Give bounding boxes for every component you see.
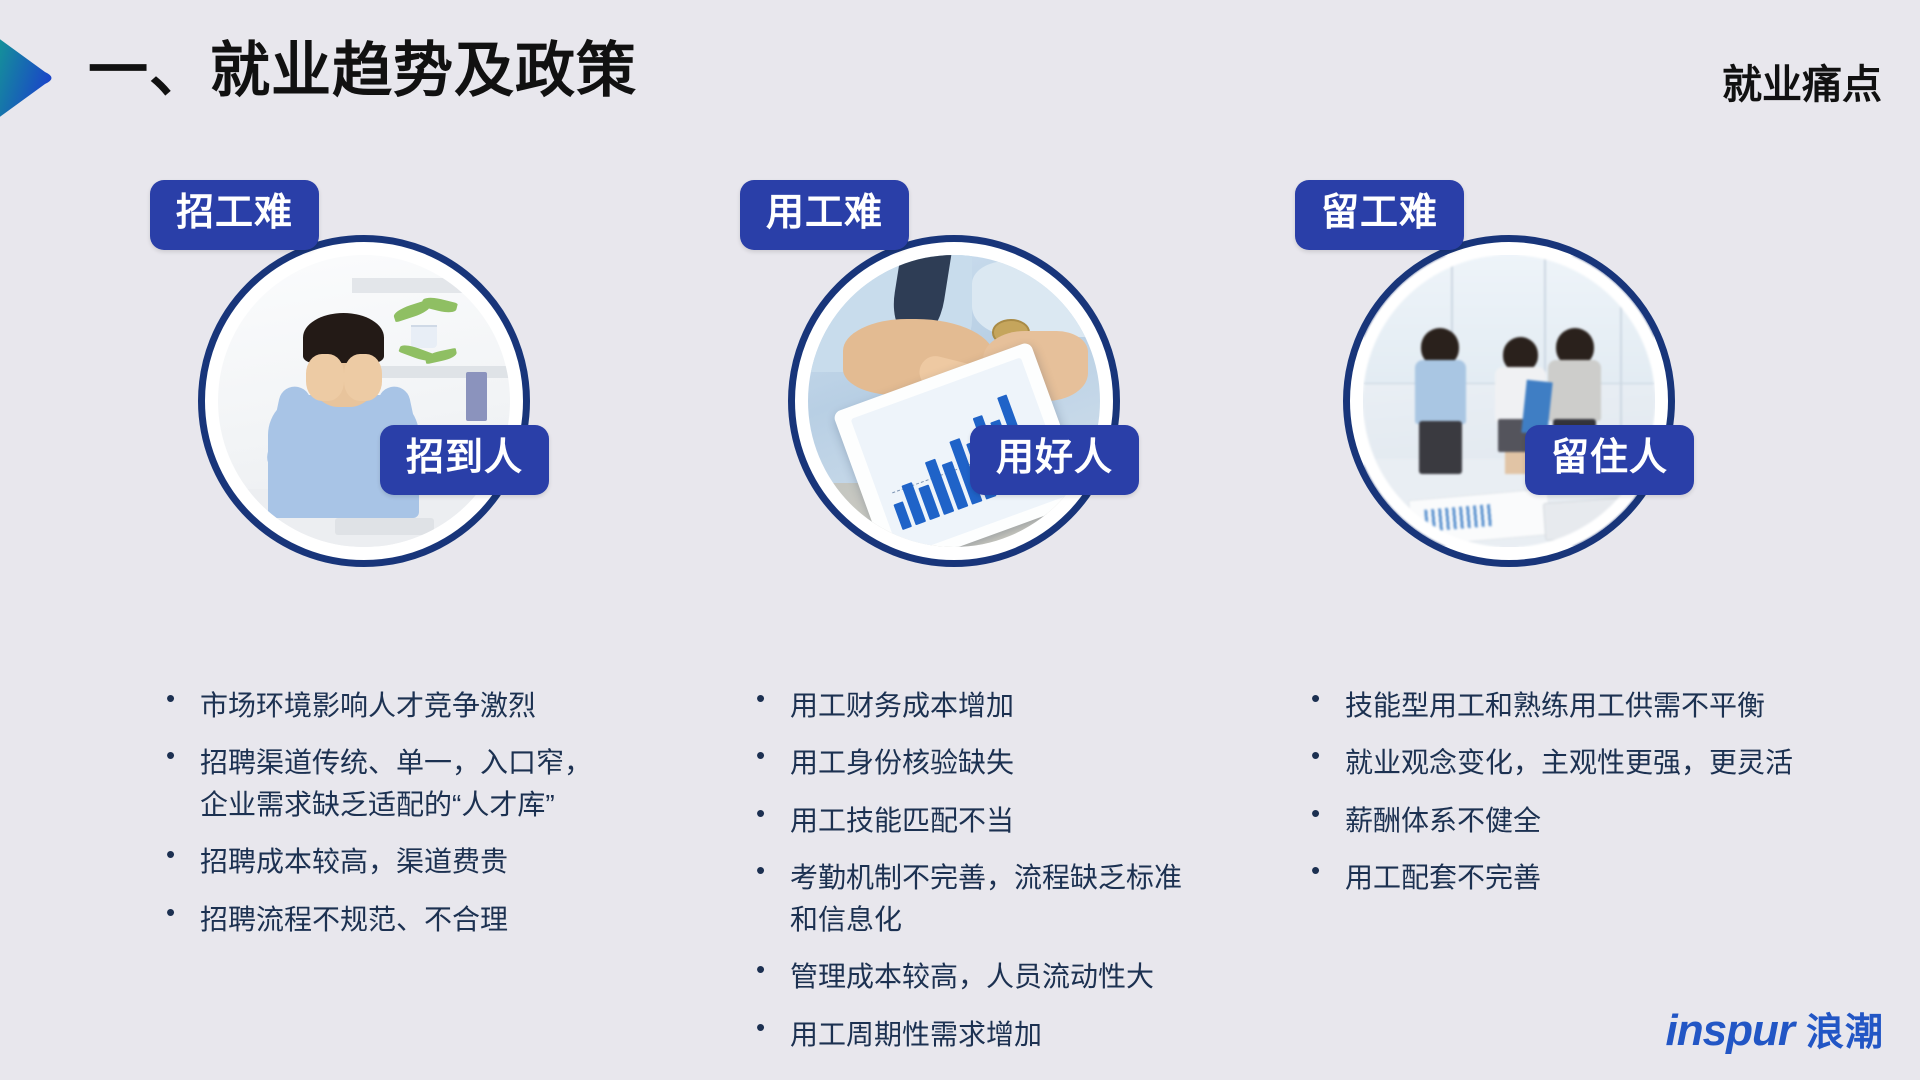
bullet-dot-icon: •: [1311, 857, 1345, 870]
bullet-dot-icon: •: [166, 899, 200, 912]
bullet-dot-icon: •: [1311, 742, 1345, 755]
badge-bottom-0[interactable]: 招到人: [380, 425, 549, 495]
photo-ring-0: [198, 235, 530, 567]
bullet-text: 招聘渠道传统、单一，入口窄， 企业需求缺乏适配的“人才库”: [200, 742, 592, 825]
page-title: 一、就业趋势及政策: [88, 35, 637, 107]
visual-block-1: 用工难 用好人: [740, 180, 1300, 580]
header-arrow-icon: [0, 32, 62, 124]
list-item: • 招聘流程不规范、不合理: [166, 899, 766, 940]
bullet-text: 管理成本较高，人员流动性大: [790, 956, 1154, 997]
brand-logo: inspur 浪潮: [1666, 1001, 1884, 1056]
list-item: • 技能型用工和熟练用工供需不平衡: [1311, 685, 1911, 726]
bullet-dot-icon: •: [756, 857, 790, 870]
list-item: • 考勤机制不完善，流程缺乏标准 和信息化: [756, 857, 1356, 940]
list-item: • 用工财务成本增加: [756, 685, 1356, 726]
bullet-dot-icon: •: [1311, 800, 1345, 813]
bullet-text: 就业观念变化，主观性更强，更灵活: [1345, 742, 1793, 783]
bullet-text: 市场环境影响人才竞争激烈: [200, 685, 536, 726]
bullet-dot-icon: •: [166, 742, 200, 755]
bullet-dot-icon: •: [756, 1014, 790, 1027]
bullet-dot-icon: •: [756, 800, 790, 813]
bullet-text: 用工配套不完善: [1345, 857, 1541, 898]
pain-point-column-2: 留工难 留住人 • 技能型用工和熟练用工供需不平衡 • 就业观念变化，主观性更强…: [1295, 180, 1855, 580]
list-item: • 招聘成本较高，渠道费贵: [166, 841, 766, 882]
badge-bottom-1[interactable]: 用好人: [970, 425, 1139, 495]
slide-header: 一、就业趋势及政策 就业痛点: [0, 0, 1920, 150]
list-item: • 市场环境影响人才竞争激烈: [166, 685, 766, 726]
badge-top-0[interactable]: 招工难: [150, 180, 319, 250]
hand-on-tablet-chart-photo: [808, 255, 1100, 547]
list-item: • 招聘渠道传统、单一，入口窄， 企业需求缺乏适配的“人才库”: [166, 742, 766, 825]
stressed-man-at-desk-photo: [218, 255, 510, 547]
bullet-text: 薪酬体系不健全: [1345, 800, 1541, 841]
brand-logo-latin-text: inspur: [1666, 1006, 1794, 1056]
bullet-dot-icon: •: [166, 841, 200, 854]
bullet-text: 招聘成本较高，渠道费贵: [200, 841, 508, 882]
bullet-dot-icon: •: [756, 685, 790, 698]
list-item: • 用工周期性需求增加: [756, 1014, 1356, 1055]
photo-ring-1: [788, 235, 1120, 567]
bullet-text: 用工身份核验缺失: [790, 742, 1014, 783]
bullet-text: 考勤机制不完善，流程缺乏标准 和信息化: [790, 857, 1182, 940]
list-item: • 就业观念变化，主观性更强，更灵活: [1311, 742, 1911, 783]
pain-point-column-1: 用工难 用好人 • 用工财务成本增加 • 用工身份核验缺失 • 用工技能匹配不当…: [740, 180, 1300, 580]
bullet-list-0: • 市场环境影响人才竞争激烈 • 招聘渠道传统、单一，入口窄， 企业需求缺乏适配…: [166, 685, 766, 956]
badge-top-1[interactable]: 用工难: [740, 180, 909, 250]
header-section-label: 就业痛点: [1722, 52, 1882, 110]
bullet-text: 用工财务成本增加: [790, 685, 1014, 726]
bullet-text: 用工技能匹配不当: [790, 800, 1014, 841]
list-item: • 薪酬体系不健全: [1311, 800, 1911, 841]
bullet-dot-icon: •: [1311, 685, 1345, 698]
bullet-text: 技能型用工和熟练用工供需不平衡: [1345, 685, 1765, 726]
list-item: • 管理成本较高，人员流动性大: [756, 956, 1356, 997]
pain-point-column-0: 招工难 招到人 • 市场环境影响人才竞争激烈 • 招聘渠道传统、单一，入口窄， …: [150, 180, 710, 580]
brand-logo-cjk-text: 浪潮: [1806, 1001, 1884, 1056]
bullet-list-2: • 技能型用工和熟练用工供需不平衡 • 就业观念变化，主观性更强，更灵活 • 薪…: [1311, 685, 1911, 915]
bullet-dot-icon: •: [166, 685, 200, 698]
list-item: • 用工技能匹配不当: [756, 800, 1356, 841]
bullet-dot-icon: •: [756, 742, 790, 755]
visual-block-2: 留工难 留住人: [1295, 180, 1855, 580]
list-item: • 用工配套不完善: [1311, 857, 1911, 898]
badge-bottom-2[interactable]: 留住人: [1525, 425, 1694, 495]
badge-top-2[interactable]: 留工难: [1295, 180, 1464, 250]
bullet-dot-icon: •: [756, 956, 790, 969]
visual-block-0: 招工难 招到人: [150, 180, 710, 580]
list-item: • 用工身份核验缺失: [756, 742, 1356, 783]
office-colleagues-meeting-photo: [1363, 255, 1655, 547]
bullet-text: 用工周期性需求增加: [790, 1014, 1042, 1055]
bullet-list-1: • 用工财务成本增加 • 用工身份核验缺失 • 用工技能匹配不当 • 考勤机制不…: [756, 685, 1356, 1071]
bullet-text: 招聘流程不规范、不合理: [200, 899, 508, 940]
photo-ring-2: [1343, 235, 1675, 567]
